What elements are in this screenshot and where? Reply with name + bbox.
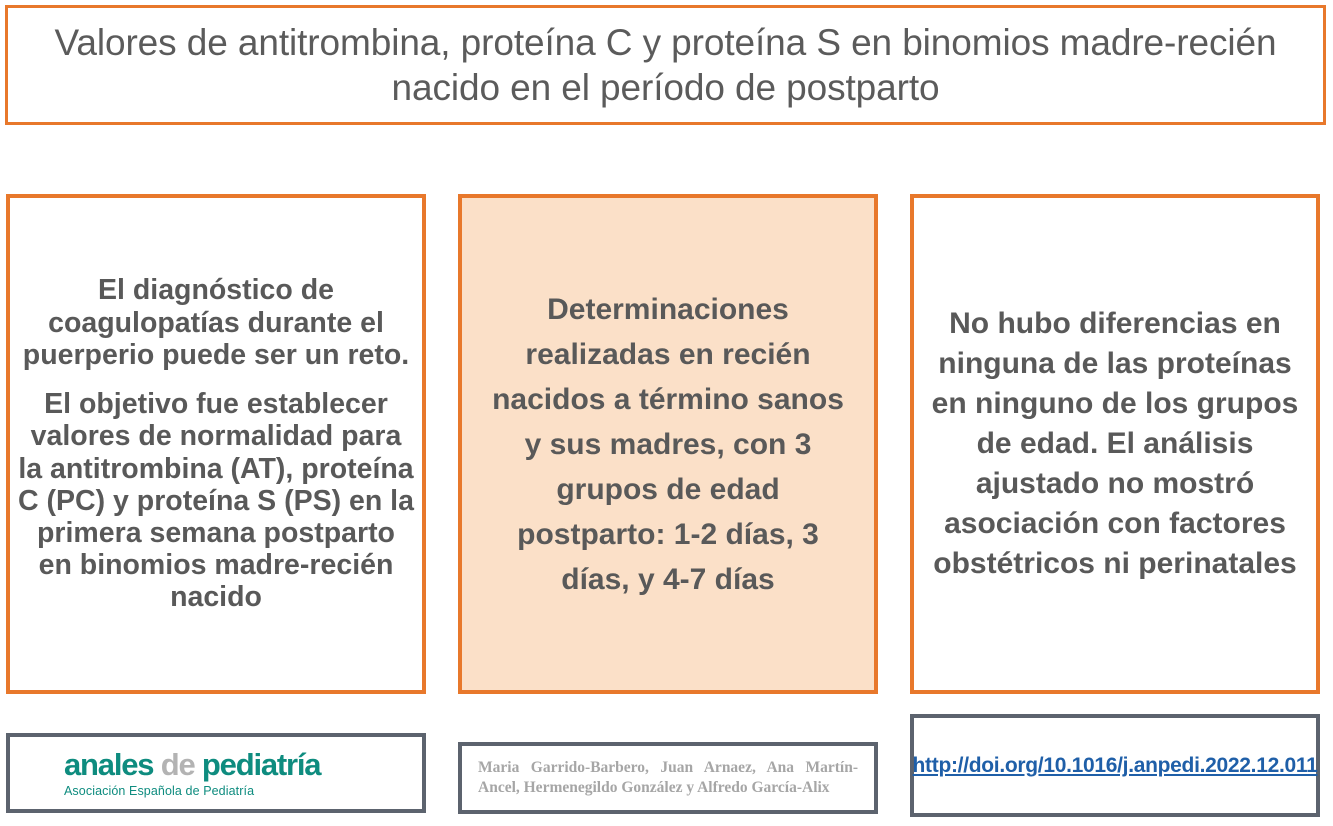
doi-box: http://doi.org/10.1016/j.anpedi.2022.12.… [910,714,1320,817]
panel-objective-paragraph-2: El objetivo fue establecer valores de no… [18,388,414,613]
journal-logo-word-pediatria: pediatría [195,747,321,782]
page-title: Valores de antitrombina, proteína C y pr… [8,20,1323,110]
panel-objective: El diagnóstico de coagulopatías durante … [6,194,426,694]
panel-methods-body: Determinaciones realizadas en recién nac… [462,287,874,602]
doi-link[interactable]: http://doi.org/10.1016/j.anpedi.2022.12.… [913,754,1318,778]
panel-methods: Determinaciones realizadas en recién nac… [458,194,878,694]
journal-logo-wordmark: anales de pediatría [64,749,320,780]
journal-logo-box: anales de pediatría Asociación Española … [6,733,426,813]
panel-objective-body: El diagnóstico de coagulopatías durante … [10,274,422,613]
journal-logo-word-de: de [161,747,195,782]
authors-box: Maria Garrido-Barbero, Juan Arnaez, Ana … [458,742,878,814]
journal-logo-word-anales: anales [64,747,161,782]
panel-results-body: No hubo diferencias en ninguna de las pr… [914,304,1316,583]
authors-list: Maria Garrido-Barbero, Juan Arnaez, Ana … [478,758,858,799]
journal-logo-subtitle: Asociación Española de Pediatría [64,785,320,798]
panel-results: No hubo diferencias en ninguna de las pr… [910,194,1320,694]
title-banner: Valores de antitrombina, proteína C y pr… [5,5,1326,125]
journal-logo: anales de pediatría Asociación Española … [64,749,320,798]
panel-objective-paragraph-1: El diagnóstico de coagulopatías durante … [18,274,414,371]
